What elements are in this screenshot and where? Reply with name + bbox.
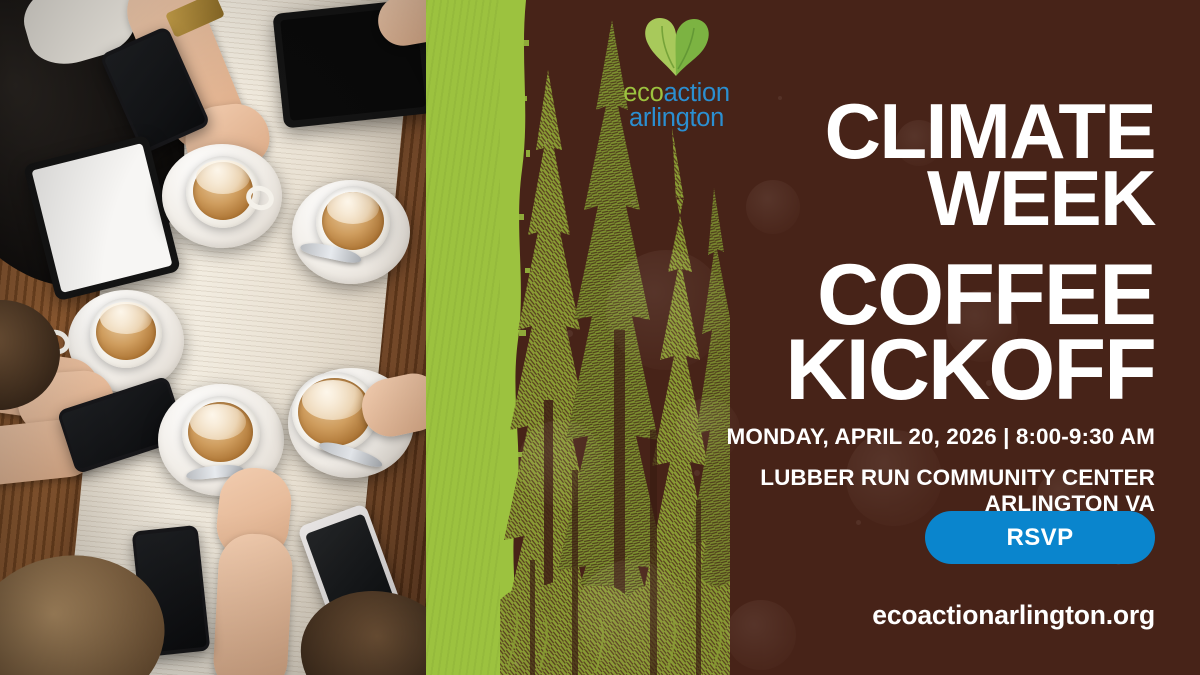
event-datetime: MONDAY, APRIL 20, 2026 | 8:00-9:30 AM [615,424,1155,451]
event-details: MONDAY, APRIL 20, 2026 | 8:00-9:30 AM LU… [615,424,1155,517]
event-venue: LUBBER RUN COMMUNITY CENTER ARLINGTON VA [615,465,1155,518]
content-column: CLIMATE WEEK COFFEE KICKOFF MONDAY, APRI… [615,0,1155,675]
foam-2 [327,192,379,224]
cafe-photo [0,0,426,675]
promo-poster: ecoaction arlington CLIMATE WEEK COFFEE … [0,0,1200,675]
headline-climate-week: CLIMATE WEEK [615,98,1155,232]
headline-line-4: KICKOFF [615,333,1155,408]
rsvp-button[interactable]: RSVP [925,511,1155,564]
headline-line-2: WEEK [615,165,1155,232]
arm-center-bottom [212,532,294,675]
tablet-screen-white [31,143,172,293]
foam-1 [196,160,250,194]
venue-line-1: LUBBER RUN COMMUNITY CENTER [615,465,1155,491]
website-url[interactable]: ecoactionarlington.org [872,600,1155,631]
foam-3 [100,302,152,334]
headline-coffee-kickoff: COFFEE KICKOFF [615,258,1155,408]
foam-4 [190,404,246,440]
foam-5 [302,380,364,420]
